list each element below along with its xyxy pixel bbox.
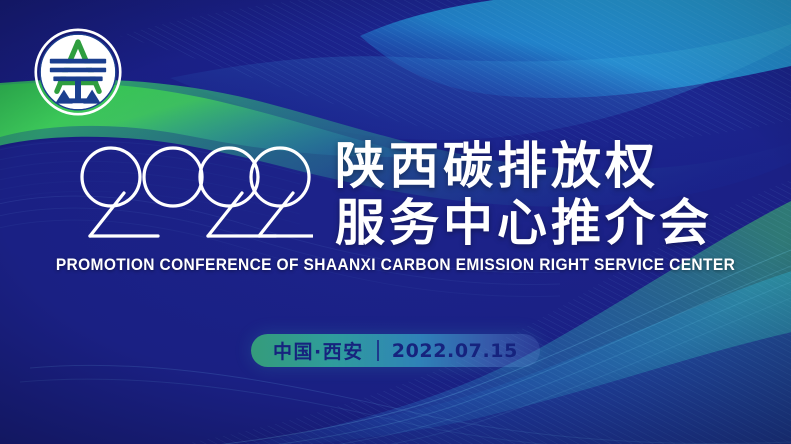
year-digit-0 [144,148,202,206]
year-digit-2c [251,148,309,206]
date-badge: 中国·西安 2022.07.15 [251,334,540,367]
badge-date: 2022.07.15 [392,340,518,362]
chinese-title: 陕西碳排放权 服务中心推介会 [335,138,713,252]
logo [34,28,122,116]
year-digit-2a [82,148,140,206]
chinese-title-line1: 陕西碳排放权 [335,137,659,195]
badge-separator-icon [377,340,379,361]
headline-row: 陕西碳排放权 服务中心推介会 [0,138,791,256]
year-2022-logotype [78,138,313,256]
english-subtitle: PROMOTION CONFERENCE OF SHAANXI CARBON E… [24,256,768,275]
chinese-title-line2: 服务中心推介会 [335,195,713,252]
year-digit-2b [200,148,258,206]
conference-poster: 陕西碳排放权 服务中心推介会 PROMOTION CONFERENCE OF S… [0,0,791,444]
date-badge-wrap: 中国·西安 2022.07.15 [0,334,791,367]
badge-city: 中国·西安 [273,337,364,364]
